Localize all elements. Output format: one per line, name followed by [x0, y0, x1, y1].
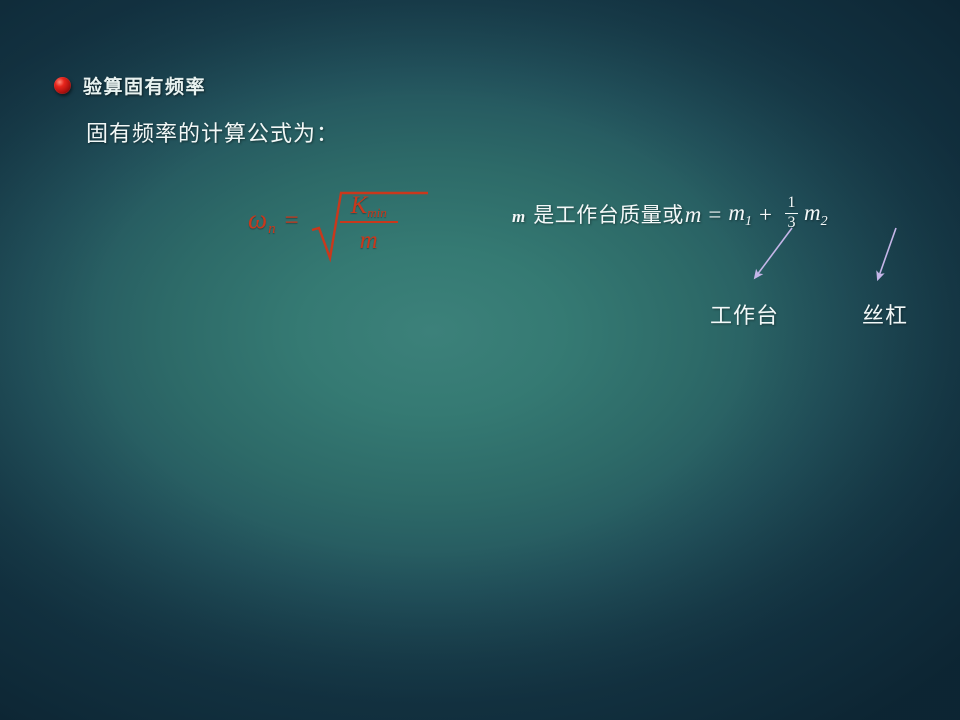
fraction-bar — [340, 221, 398, 223]
denominator: m — [360, 227, 378, 255]
red-sphere-bullet-icon — [54, 77, 71, 94]
fraction-numerator: 1 — [787, 195, 795, 212]
variable-m: m — [512, 207, 525, 227]
heading-title: 验算固有频率 — [83, 72, 206, 99]
omega-symbol: ωn — [248, 204, 276, 238]
eqn-term1: m1 — [728, 200, 752, 230]
annotation-label-worktable: 工作台 — [710, 298, 779, 330]
annotation-arrows — [0, 0, 960, 720]
equals-sign: = — [285, 207, 299, 235]
fraction-denominator: 3 — [787, 215, 795, 232]
slide-heading: 验算固有频率 — [54, 72, 206, 99]
eqn-term2-subscript: 2 — [821, 214, 828, 229]
eqn-term1-symbol: m — [728, 200, 745, 225]
omega-glyph: ω — [248, 204, 267, 234]
eqn-term2: m2 — [804, 200, 828, 230]
background-vignette — [0, 0, 960, 720]
mass-equation: m = m1 + 1 3 m2 — [685, 196, 828, 233]
one-third-fraction: 1 3 — [785, 195, 798, 232]
eqn-term2-symbol: m — [804, 200, 821, 225]
explanation-text: 是工作台质量或 — [533, 199, 684, 229]
omega-subscript: n — [268, 221, 276, 237]
numerator-subscript: min — [367, 205, 387, 220]
eqn-equals: = — [708, 202, 721, 228]
square-root-icon — [310, 190, 336, 256]
slide-canvas: 验算固有频率 固有频率的计算公式为： ωn = Kmin m m 是工作台质量或… — [0, 0, 960, 720]
eqn-term1-subscript: 1 — [745, 214, 752, 229]
radicand: Kmin m — [336, 191, 410, 256]
eqn-lhs: m — [685, 202, 702, 228]
numerator: Kmin — [351, 192, 387, 220]
annotation-label-leadscrew: 丝杠 — [862, 298, 908, 330]
numerator-symbol: K — [351, 192, 368, 219]
natural-frequency-formula: ωn = Kmin m — [248, 186, 410, 256]
arrow-down-left-icon — [757, 228, 792, 275]
mass-explanation: m 是工作台质量或 m = m1 + 1 3 m2 — [512, 196, 828, 233]
subheading-text: 固有频率的计算公式为： — [86, 116, 339, 148]
arrow-down-icon — [879, 228, 896, 276]
eqn-plus: + — [759, 202, 772, 228]
square-root-expression: Kmin m — [310, 186, 410, 256]
